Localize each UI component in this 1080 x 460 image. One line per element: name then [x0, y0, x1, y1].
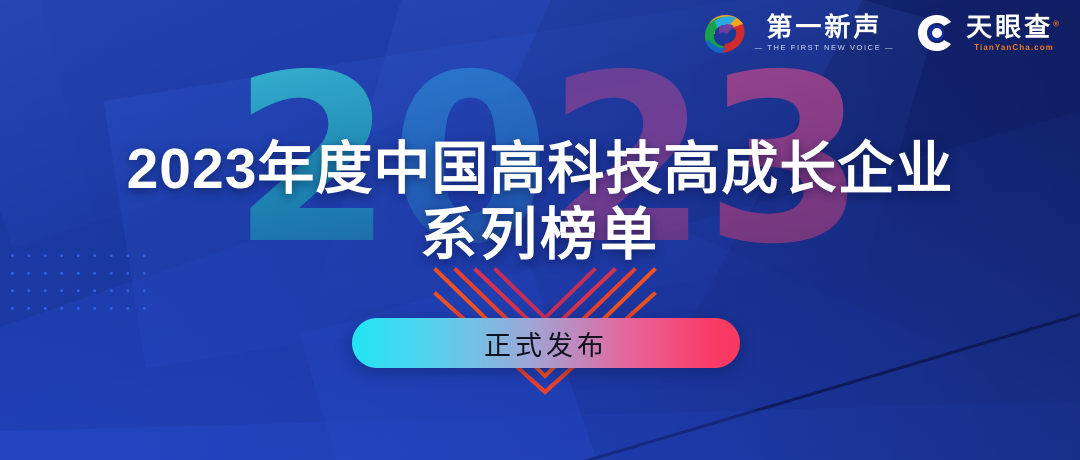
background-facet-right-dark — [651, 0, 1080, 460]
background-facet-top-right — [487, 0, 1080, 452]
registered-trademark-icon: ® — [1053, 20, 1062, 29]
year-watermark: 2023 — [232, 44, 862, 276]
logo-tianyancha-name-cn: 天眼查 — [966, 12, 1053, 42]
logo-tianyancha-text: 天眼查® TianYanCha.com — [966, 14, 1062, 51]
promo-banner: 2023 第一新声 — THE FIRST NEW VOICE — — [0, 0, 1080, 460]
release-status-label: 正式发布 — [484, 324, 608, 363]
watermark-digit-3: 2 — [547, 25, 704, 295]
logo-diyixinsheng[interactable]: 第一新声 — THE FIRST NEW VOICE — — [701, 12, 894, 54]
logo-tianyancha[interactable]: 天眼查® TianYanCha.com — [916, 13, 1062, 53]
watermark-digit-4: 3 — [704, 25, 861, 295]
logo-diyixinsheng-tagline: — THE FIRST NEW VOICE — — [755, 43, 894, 52]
background-facet-bottom-strip — [0, 399, 1080, 460]
watermark-digit-2: 0 — [389, 25, 546, 295]
dot-grid-decoration — [4, 247, 154, 321]
headline-line-1: 2023年度中国高科技高成长企业 — [0, 136, 1080, 202]
release-status-badge[interactable]: 正式发布 — [352, 318, 740, 368]
background-facet-bottom-right — [300, 87, 1080, 460]
headline: 2023年度中国高科技高成长企业 系列榜单 — [0, 136, 1080, 268]
background-facet-bottom-left — [0, 157, 629, 460]
watermark-digit-1: 2 — [232, 25, 389, 295]
logo-tianyancha-name: 天眼查® — [966, 14, 1062, 41]
logo-tianyancha-tagline: TianYanCha.com — [974, 43, 1054, 52]
background-facet-mid — [104, 0, 897, 368]
logo-diyixinsheng-name: 第一新声 — [766, 14, 882, 41]
swirl-ribbon-logo-icon — [701, 12, 747, 54]
eye-aperture-logo-icon — [916, 13, 958, 53]
logo-diyixinsheng-text: 第一新声 — THE FIRST NEW VOICE — — [755, 14, 894, 52]
headline-line-2: 系列榜单 — [0, 202, 1080, 268]
logo-bar: 第一新声 — THE FIRST NEW VOICE — 天眼查® TianYa… — [701, 12, 1062, 54]
background-facet-top-left — [0, 0, 793, 249]
background-facet-sheen — [304, 0, 936, 460]
